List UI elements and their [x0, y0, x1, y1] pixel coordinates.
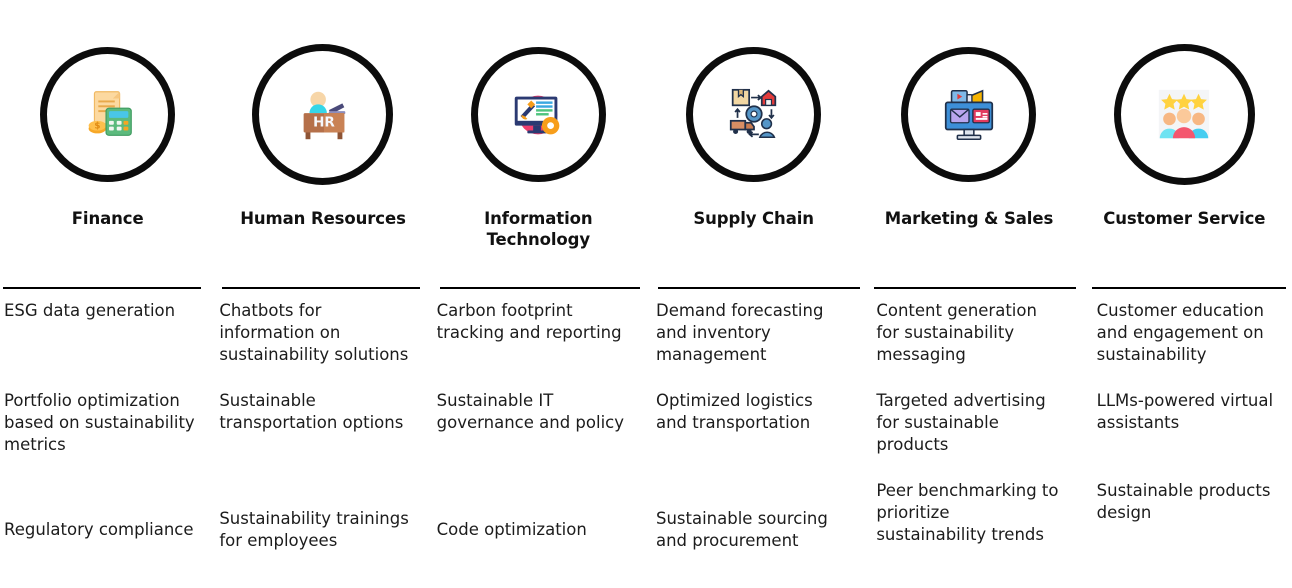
column-body-customer-service: Customer education and engagement on sus… [1077, 300, 1292, 580]
icon-circle-wrap [646, 0, 861, 196]
capability-item: Peer benchmarking to prioritize sustaina… [876, 480, 1062, 580]
column-header-information-technology: Information Technology [431, 0, 646, 278]
column-header-human-resources: HR Human Resources [215, 0, 430, 278]
column-body-human-resources: Chatbots for information on sustainabili… [215, 300, 430, 580]
marketing-monitor-megaphone-icon [938, 84, 1000, 146]
icon-circle-wrap [1077, 0, 1292, 196]
icon-circle-wrap: $ [0, 0, 215, 196]
column-headers: $ Finance [0, 0, 1292, 278]
capability-item: Targeted advertising for sustainable pro… [876, 390, 1062, 480]
capability-item: Optimized logistics and transportation [656, 390, 847, 480]
icon-circle-wrap [431, 0, 646, 196]
divider-rule-finance [3, 287, 201, 289]
column-header-marketing-sales: Marketing & Sales [861, 0, 1076, 278]
it-monitor-tools-gear-icon [507, 84, 569, 146]
icon-circle-wrap: HR [215, 0, 430, 196]
supply-chain-box-warehouse-truck-icon [723, 84, 785, 146]
capability-matrix: $ Finance [0, 0, 1292, 588]
column-header-customer-service: Customer Service [1077, 0, 1292, 278]
icon-circle-wrap [861, 0, 1076, 196]
finance-invoice-calculator-icon: $ [77, 84, 139, 146]
capability-item: Sustainable sourcing and procurement [656, 480, 847, 580]
icon-circle: HR [252, 44, 393, 185]
divider-rule-marketing-sales [874, 287, 1076, 289]
divider-rule-supply-chain [658, 287, 860, 289]
icon-circle [1114, 44, 1255, 185]
icon-circle [901, 47, 1036, 182]
capability-item: Content generation for sustainability me… [876, 300, 1062, 390]
column-label: Information Technology [431, 208, 646, 250]
divider-rule-customer-service [1092, 287, 1286, 289]
capability-grid: ESG data generation Portfolio optimizati… [0, 300, 1292, 580]
column-label: Human Resources [215, 208, 430, 229]
column-label: Supply Chain [646, 208, 861, 229]
column-header-finance: $ Finance [0, 0, 215, 278]
icon-circle [471, 47, 606, 182]
capability-item: Regulatory compliance [4, 480, 201, 580]
hr-desk-person-icon: HR [292, 84, 354, 146]
capability-item: Sustainable IT governance and policy [437, 390, 632, 480]
column-body-supply-chain: Demand forecasting and inventory managem… [646, 300, 861, 580]
svg-text:$: $ [94, 121, 100, 131]
capability-item: LLMs-powered virtual assistants [1097, 390, 1278, 480]
capability-item: Sustainability trainings for employees [219, 480, 416, 580]
customer-service-stars-people-icon [1153, 84, 1215, 146]
divider-rule-human-resources [222, 287, 420, 289]
capability-item: Chatbots for information on sustainabili… [219, 300, 416, 390]
capability-item: ESG data generation [4, 300, 201, 390]
capability-item: Code optimization [437, 480, 632, 580]
column-body-finance: ESG data generation Portfolio optimizati… [0, 300, 215, 580]
capability-item: Demand forecasting and inventory managem… [656, 300, 847, 390]
capability-item: Customer education and engagement on sus… [1097, 300, 1278, 390]
column-body-information-technology: Carbon footprint tracking and reporting … [431, 300, 646, 580]
capability-item: Sustainable transportation options [219, 390, 416, 480]
icon-circle [686, 47, 821, 182]
icon-circle: $ [40, 47, 175, 182]
capability-item: Portfolio optimization based on sustaina… [4, 390, 201, 480]
divider-rule-information-technology [440, 287, 640, 289]
column-body-marketing-sales: Content generation for sustainability me… [861, 300, 1076, 580]
capability-item: Carbon footprint tracking and reporting [437, 300, 632, 390]
column-header-supply-chain: Supply Chain [646, 0, 861, 278]
column-label: Customer Service [1077, 208, 1292, 229]
column-label: Finance [0, 208, 215, 229]
column-label: Marketing & Sales [861, 208, 1076, 229]
column-dividers [0, 287, 1292, 290]
capability-item: Sustainable products design [1097, 480, 1278, 580]
svg-text:HR: HR [313, 114, 335, 130]
